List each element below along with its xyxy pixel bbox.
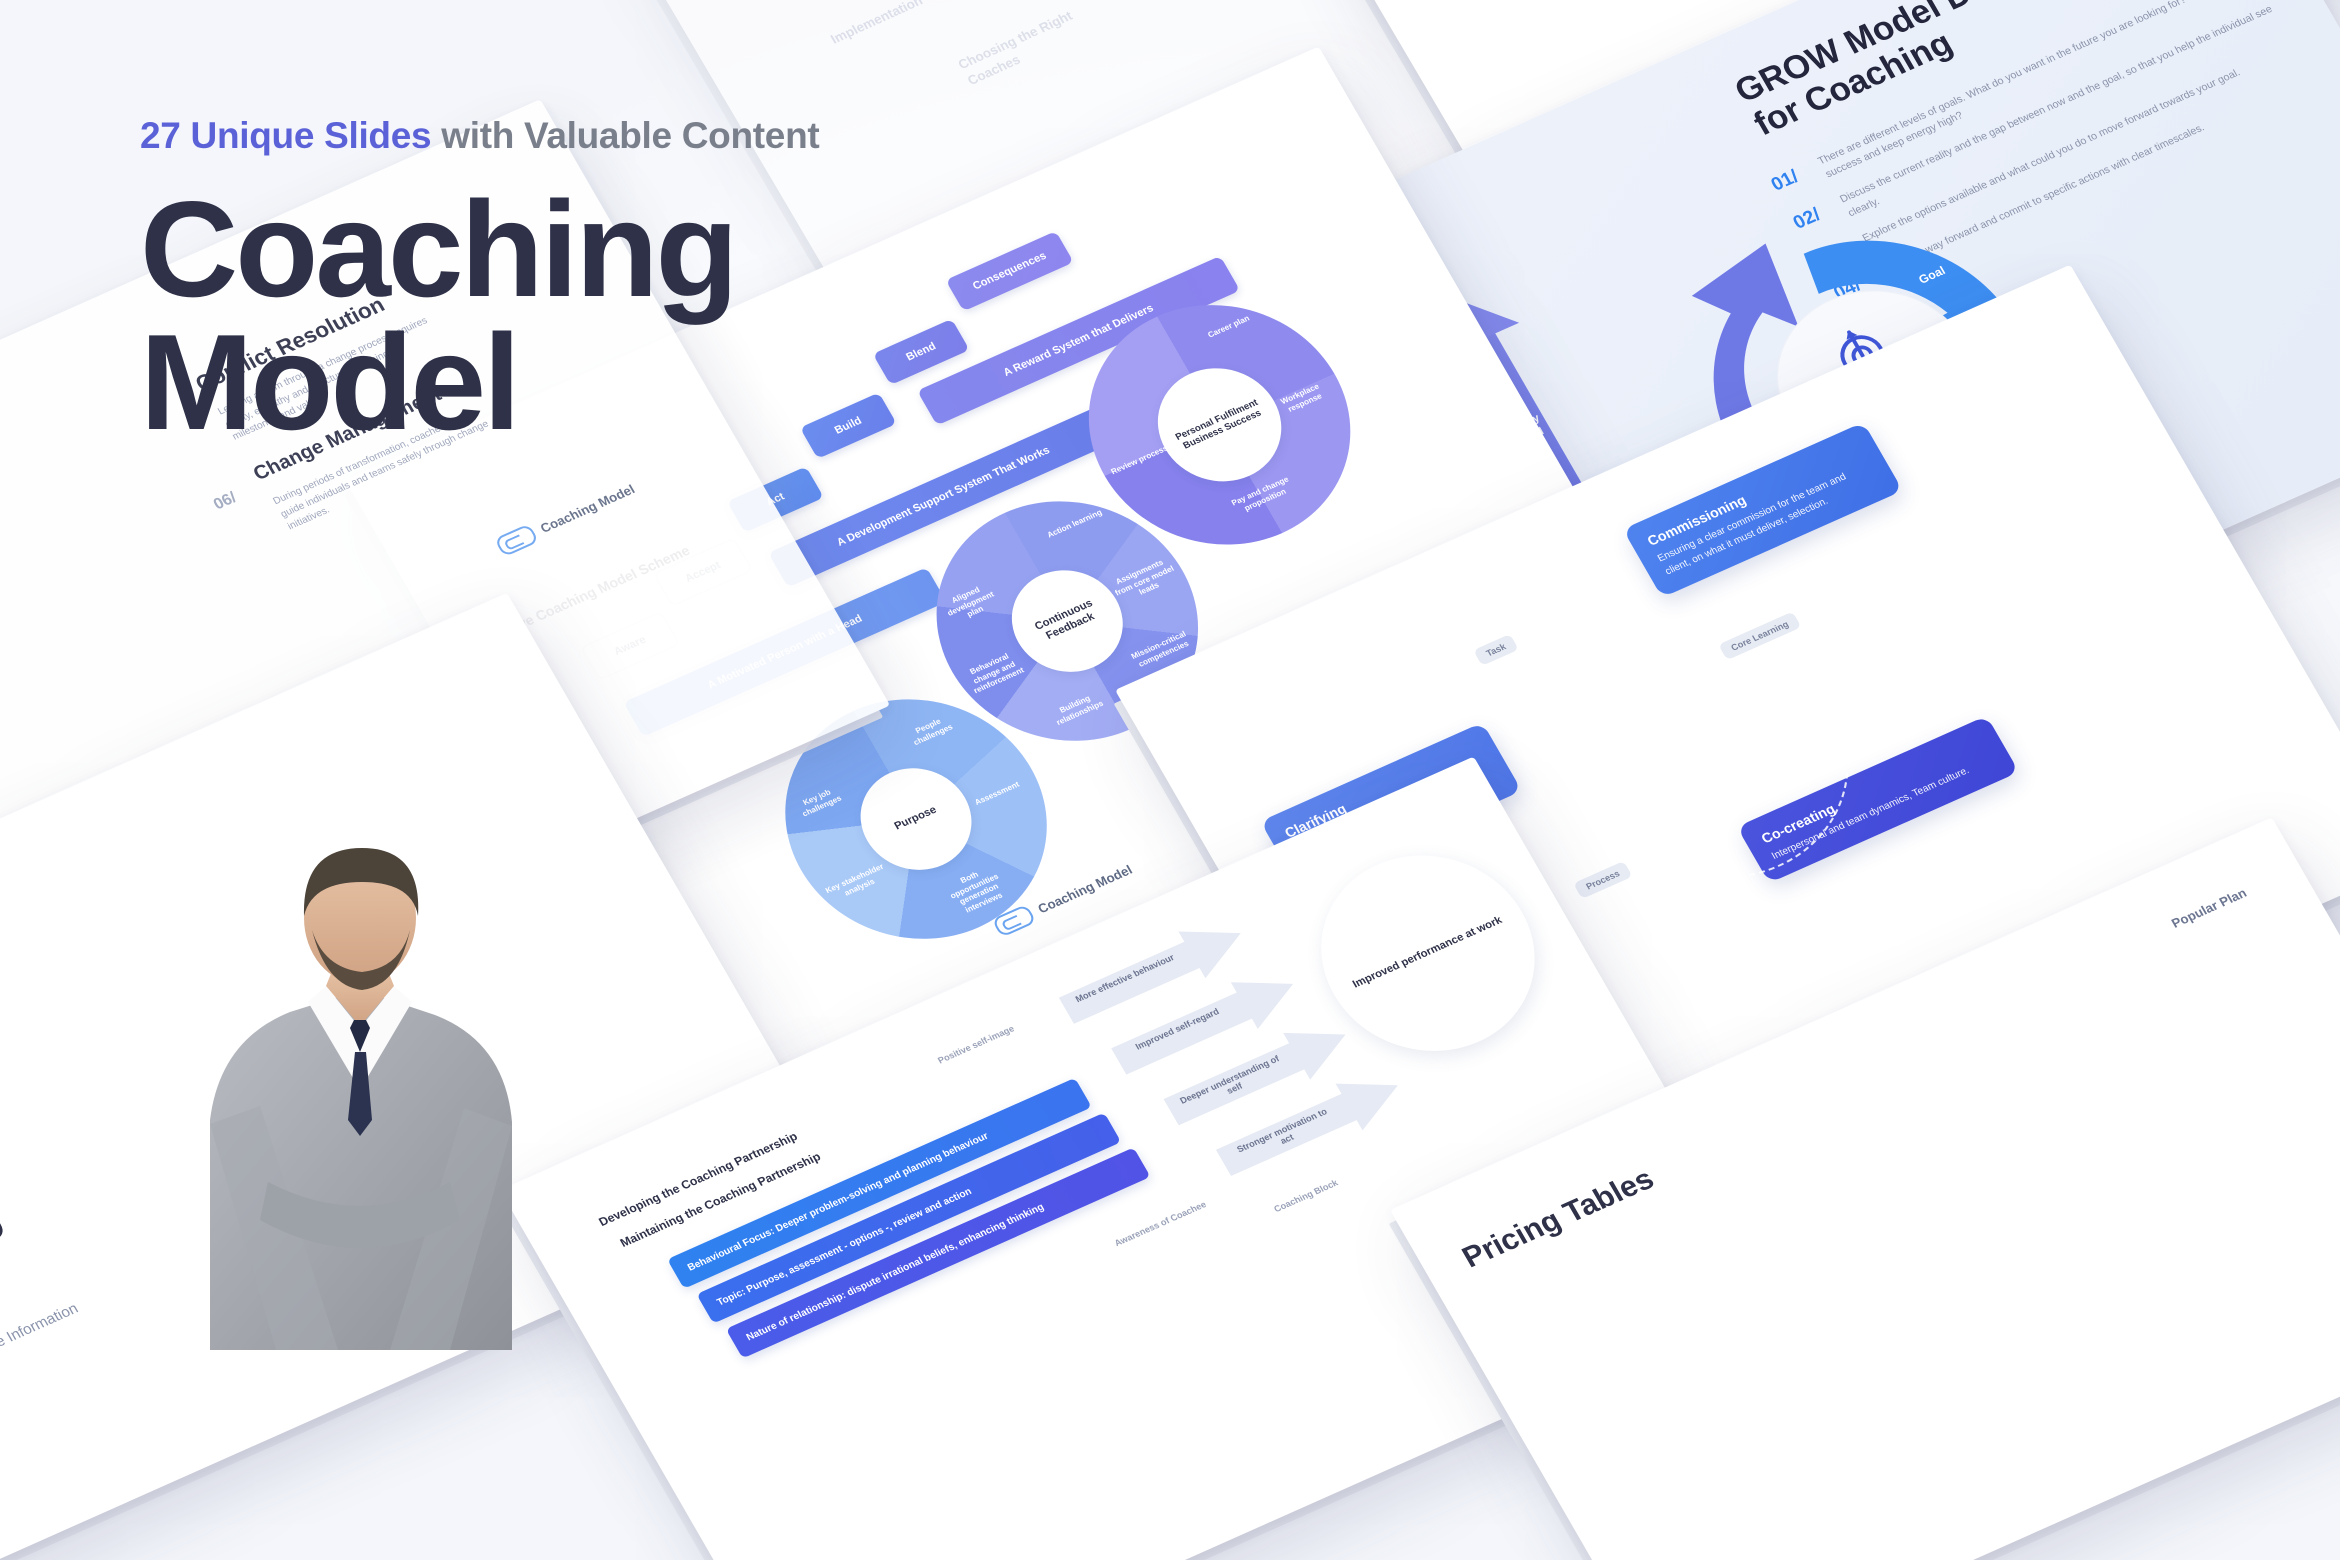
toc-item: Choosing the Right Coaches bbox=[955, 0, 1132, 89]
donut-slice-label: Review process bbox=[1108, 443, 1172, 477]
promo-canvas: Review and Continuation Implementation C… bbox=[0, 0, 2340, 1560]
donut-slice-label: Behavioral change and reinforcement bbox=[958, 647, 1031, 698]
donut-slice-label: Key stakeholder analysis bbox=[823, 862, 891, 905]
sidebar-label: Positive self-image bbox=[923, 1018, 1029, 1072]
brand-logo: Coaching Model bbox=[494, 479, 639, 557]
page-title-line1: Coaching bbox=[140, 183, 819, 316]
tagline-highlight: 27 Unique Slides bbox=[140, 115, 431, 156]
businessman-photo bbox=[150, 790, 570, 1350]
donut-slice-label: Both opportunities generation interviews bbox=[938, 861, 1016, 920]
donut-slice-label: Assessment bbox=[965, 776, 1029, 810]
pricing-title: Pricing Tables bbox=[1457, 1163, 1660, 1275]
box-commissioning[interactable]: Commissioning Ensuring a clear commissio… bbox=[1623, 422, 1903, 598]
donut-slice-label: Key job challenges bbox=[785, 780, 853, 823]
step-pill[interactable]: Consequences bbox=[946, 231, 1074, 311]
page-title: Coaching Model bbox=[140, 183, 819, 450]
donut-slice-label: Assignments from core model leads bbox=[1108, 555, 1181, 606]
donut-slice-label: Pay and change proposition bbox=[1229, 474, 1297, 517]
toc-item: Implementation bbox=[827, 0, 995, 48]
dashed-ring bbox=[1536, 595, 1896, 919]
donut-slice-label: Action learning bbox=[1043, 507, 1107, 541]
brand-logo-text: Coaching Model bbox=[538, 482, 638, 536]
donut-slice-label: People challenges bbox=[897, 709, 965, 752]
pricing-plan-label: Popular Plan bbox=[2169, 885, 2249, 930]
donut-slice-label: Career plan bbox=[1197, 310, 1261, 344]
headline-block: 27 Unique Slides with Valuable Content C… bbox=[140, 115, 819, 450]
tagline: 27 Unique Slides with Valuable Content bbox=[140, 115, 819, 157]
sidebar-label: Awareness of Coachee bbox=[1107, 1197, 1213, 1251]
donut-slice-label: Workplace response bbox=[1268, 377, 1336, 420]
tab-process[interactable]: Process bbox=[1573, 861, 1633, 899]
brand-logo-text: Coaching Model bbox=[1035, 862, 1135, 916]
sidebar-label: Coaching Block bbox=[1253, 1169, 1359, 1223]
tagline-rest: with Valuable Content bbox=[431, 115, 819, 156]
tab-task[interactable]: Task bbox=[1473, 634, 1519, 666]
donut-slice-label: Building relationships bbox=[1043, 687, 1111, 730]
donut-hub: Purpose bbox=[841, 751, 991, 886]
donut-slice-label: Aligned development plan bbox=[934, 578, 1007, 629]
cover-title-line2: Model bbox=[0, 1232, 34, 1374]
paperclip-icon bbox=[494, 523, 539, 557]
page-title-line2: Model bbox=[140, 316, 819, 449]
conflict-number: 06/ bbox=[211, 489, 240, 514]
cover-subtitle: Presentation with valuable Information bbox=[0, 1300, 81, 1419]
